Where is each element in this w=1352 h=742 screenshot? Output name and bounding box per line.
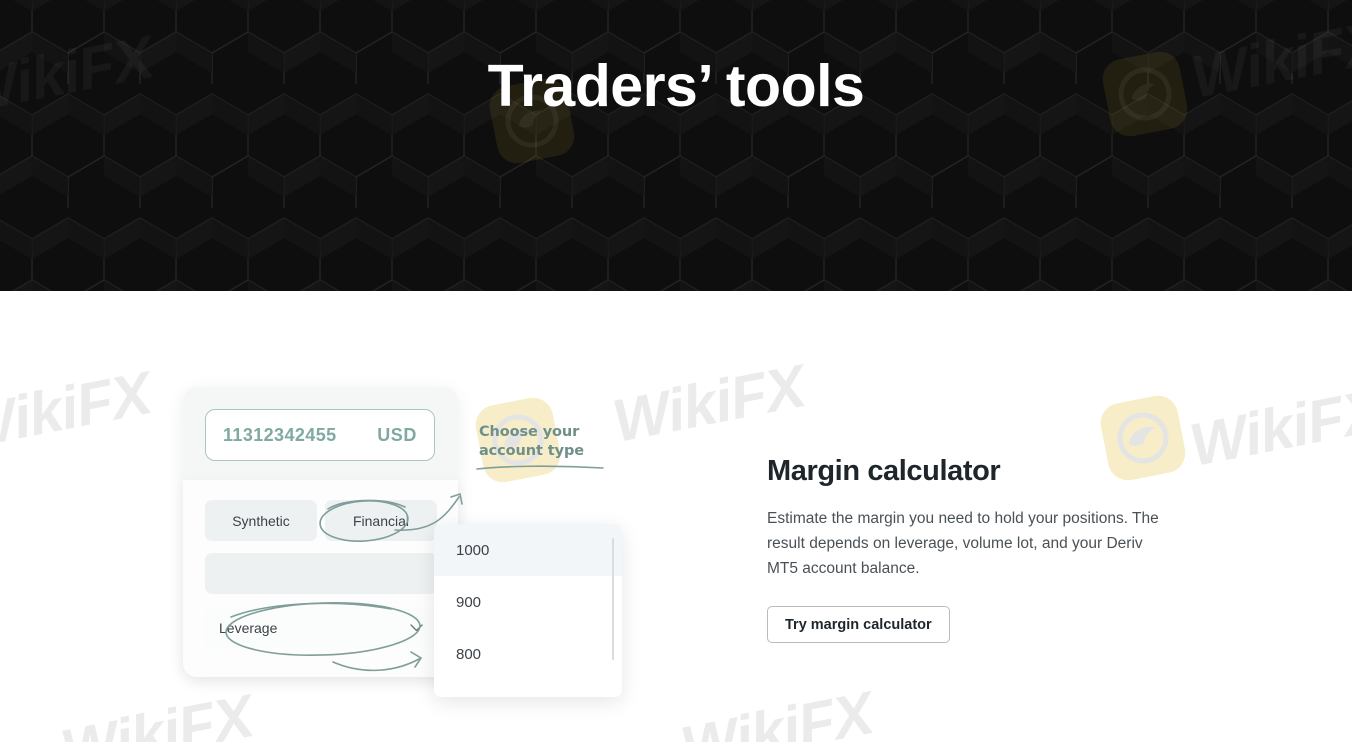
currency-label: USD xyxy=(377,425,417,446)
volume-field[interactable] xyxy=(205,553,437,594)
account-type-label: Synthetic xyxy=(232,513,290,529)
account-balance-value: 11312342455 xyxy=(223,425,337,446)
account-type-tabs: Synthetic Financial xyxy=(205,500,437,541)
dropdown-scrollbar[interactable] xyxy=(612,538,615,660)
page-title: Traders’ tools xyxy=(0,52,1352,122)
hexagon-pattern-icon xyxy=(0,0,1352,291)
account-type-tab-financial[interactable]: Financial xyxy=(325,500,437,541)
hero-banner: WikiFX WikiFX Traders’ tools xyxy=(0,0,1352,291)
page-root: WikiFX WikiFX Traders’ tools xyxy=(0,0,1352,742)
account-type-tab-synthetic[interactable]: Synthetic xyxy=(205,500,317,541)
annotation-underline-icon xyxy=(477,466,603,469)
leverage-option-label: 900 xyxy=(456,594,481,611)
watermark-text: WikiFX xyxy=(0,376,151,445)
try-margin-calculator-button[interactable]: Try margin calculator xyxy=(767,606,950,643)
account-type-label: Financial xyxy=(353,513,409,529)
content-section: WikiFX WikiFX WikiFX Wik xyxy=(0,291,1352,742)
watermark-text: WikiFX xyxy=(612,369,805,438)
annotation-text: Choose your account type xyxy=(479,423,609,462)
leverage-dropdown-list[interactable]: 1000 900 800 xyxy=(434,524,622,697)
watermark-text: WikiFX xyxy=(60,699,253,742)
margin-calculator-illustration: 11312342455 USD Synthetic Financial Leve… xyxy=(183,387,633,697)
account-balance-field[interactable]: 11312342455 USD xyxy=(205,409,435,461)
section-description: Estimate the margin you need to hold you… xyxy=(767,506,1162,581)
chevron-down-icon xyxy=(410,624,423,632)
watermark-text: WikiFX xyxy=(680,696,873,742)
section-title: Margin calculator xyxy=(767,455,1187,488)
watermark-text: WikiFX xyxy=(1189,393,1352,462)
margin-calculator-copy: Margin calculator Estimate the margin yo… xyxy=(767,455,1187,643)
leverage-label: Leverage xyxy=(219,620,277,636)
leverage-option-label: 1000 xyxy=(456,542,489,559)
leverage-option[interactable]: 800 xyxy=(434,628,622,680)
leverage-select[interactable]: Leverage xyxy=(205,607,437,648)
leverage-option-label: 800 xyxy=(456,646,481,663)
leverage-option[interactable]: 900 xyxy=(434,576,622,628)
leverage-option[interactable]: 1000 xyxy=(434,524,622,576)
